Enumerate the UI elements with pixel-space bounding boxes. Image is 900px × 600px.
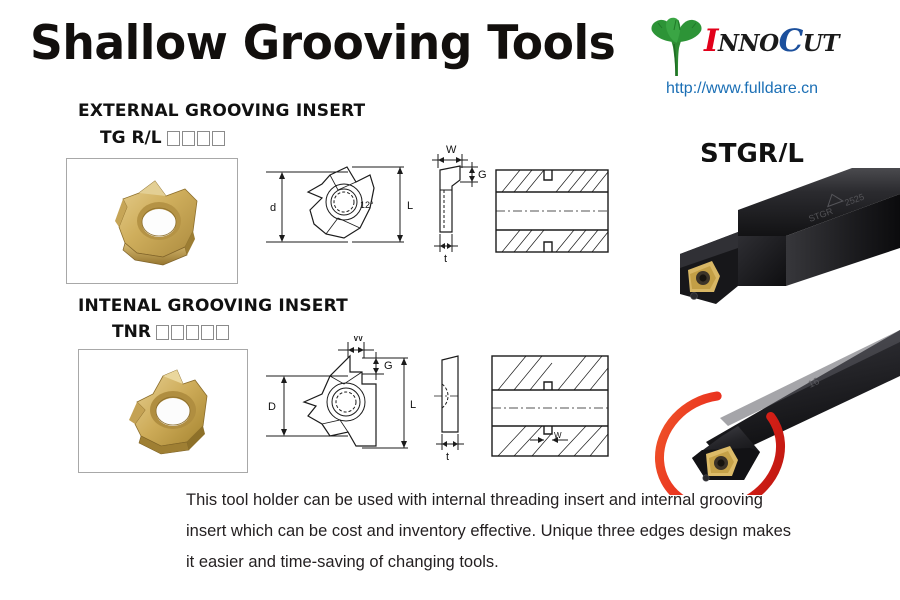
dim-label-G: G — [384, 360, 393, 372]
dim-label-G: G — [478, 169, 487, 181]
external-grooving-insert-photo — [67, 159, 238, 284]
internal-grooving-insert-photo — [79, 350, 248, 473]
dim-label-W: W — [353, 336, 364, 344]
internal-boring-bar-tool-holder-photo: 16 — [610, 330, 900, 495]
internal-section-heading: INTENAL GROOVING INSERT — [78, 296, 348, 316]
brand-letters-ut: UT — [803, 30, 839, 57]
external-code-prefix: TG R/L — [100, 128, 162, 148]
catalog-page: Shallow Grooving Tools INNOCUT http://ww… — [0, 0, 900, 600]
code-placeholder-box — [156, 325, 169, 340]
brand-letter-c: C — [779, 23, 803, 59]
external-insert-technical-drawing: d 12° L W G t — [252, 142, 612, 290]
dim-label-d: d — [270, 202, 276, 214]
page-title: Shallow Grooving Tools — [30, 16, 615, 71]
internal-insert-photo-frame — [78, 349, 248, 473]
code-placeholder-box — [167, 131, 180, 146]
code-placeholder-box — [171, 325, 184, 340]
internal-code-prefix: TNR — [112, 322, 151, 342]
dim-label-D: D — [268, 401, 276, 413]
dim-label-L: L — [410, 399, 416, 411]
code-placeholder-box — [186, 325, 199, 340]
code-placeholder-box — [216, 325, 229, 340]
internal-insert-technical-drawing: D W G L t W — [252, 336, 612, 484]
ginkgo-leaf-icon — [648, 16, 706, 78]
dim-label-W: W — [446, 144, 457, 156]
external-threading-tool-holder-photo: STGR 2525 — [620, 162, 900, 312]
code-placeholder-box — [197, 131, 210, 146]
external-part-code: TG R/L — [100, 128, 225, 148]
brand-letter-i: I — [704, 23, 718, 59]
dim-label-L: L — [407, 200, 413, 212]
brand-wordmark: INNOCUT — [704, 26, 839, 57]
product-description: This tool holder can be used with intern… — [186, 485, 796, 578]
dim-label-angle: 12° — [360, 200, 374, 210]
external-insert-photo-frame — [66, 158, 238, 284]
website-url[interactable]: http://www.fulldare.cn — [666, 80, 818, 98]
external-section-heading: EXTERNAL GROOVING INSERT — [78, 101, 365, 121]
code-placeholder-box — [201, 325, 214, 340]
dim-label-W-bore: W — [554, 431, 562, 440]
dim-label-t: t — [444, 253, 447, 265]
internal-part-code: TNR — [112, 322, 229, 342]
dim-label-t: t — [446, 451, 449, 463]
brand-logo: INNOCUT http://www.fulldare.cn — [648, 14, 898, 104]
code-placeholder-box — [212, 131, 225, 146]
brand-letters-nno: NNO — [718, 30, 779, 57]
code-placeholder-box — [182, 131, 195, 146]
